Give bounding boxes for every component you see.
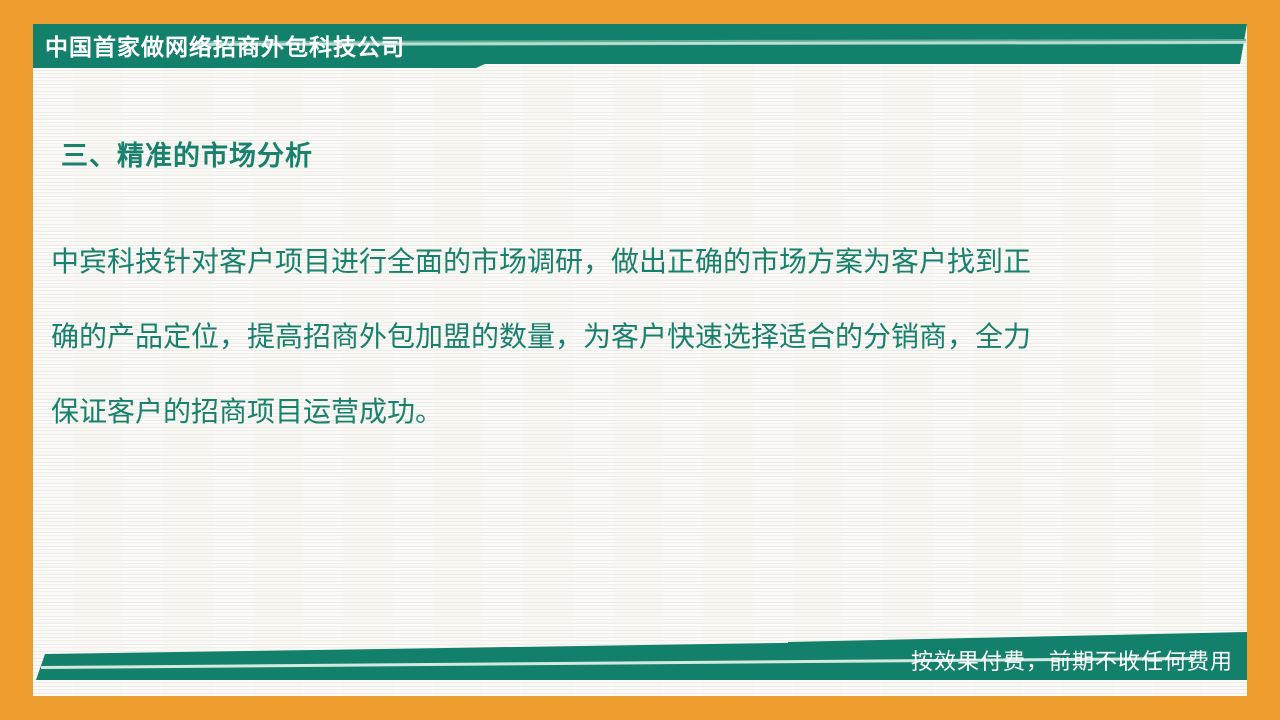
slide-content: 三、精准的市场分析 中宾科技针对客户项目进行全面的市场调研，做出正确的市场方案为… bbox=[33, 72, 1247, 632]
header-banner-text: 中国首家做网络招商外包科技公司 bbox=[45, 33, 405, 63]
page-title: 三、精准的市场分析 bbox=[61, 134, 313, 173]
presentation-slide: 中国首家做网络招商外包科技公司 三、精准的市场分析 中宾科技针对客户项目进行全面… bbox=[0, 0, 1280, 720]
body-line-2: 确的产品定位，提高招商外包加盟的数量，为客户快速选择适合的分销商，全力 bbox=[51, 299, 1196, 374]
body-paragraph: 中宾科技针对客户项目进行全面的市场调研，做出正确的市场方案为客户找到正 确的产品… bbox=[51, 224, 1196, 449]
body-line-1: 中宾科技针对客户项目进行全面的市场调研，做出正确的市场方案为客户找到正 bbox=[51, 224, 1196, 299]
footer-tagline: 按效果付费，前期不收任何费用 bbox=[911, 649, 1233, 677]
body-line-3: 保证客户的招商项目运营成功。 bbox=[51, 374, 1196, 449]
